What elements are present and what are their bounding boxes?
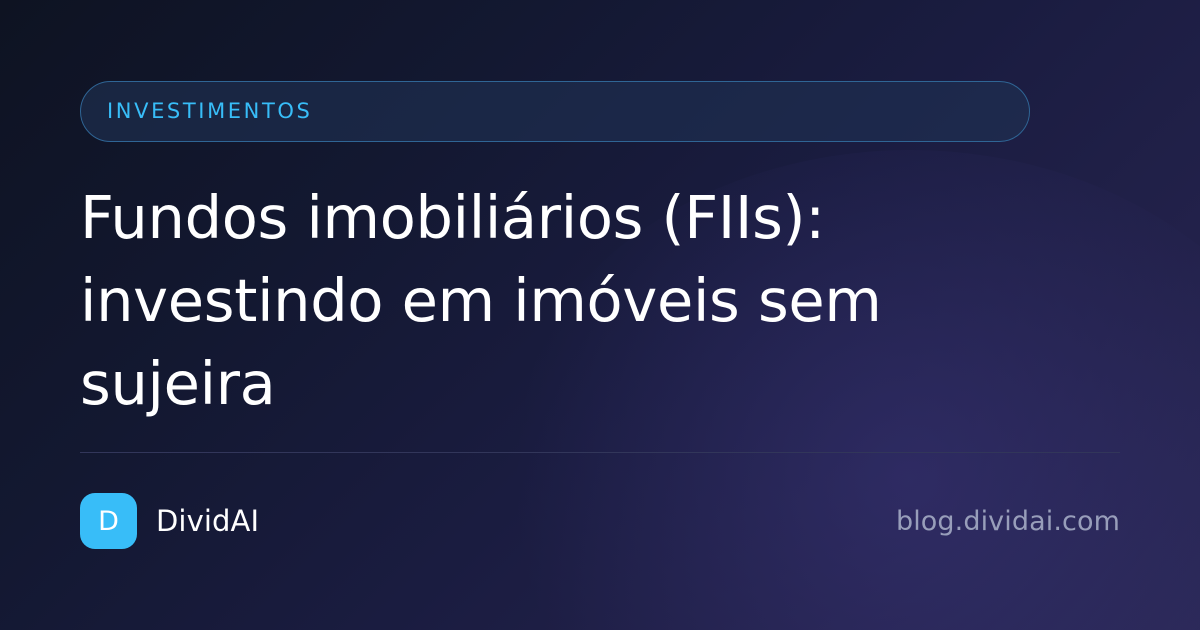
avatar-initial: D bbox=[98, 508, 119, 535]
page-title-line-1: Fundos imobiliários (FIIs): bbox=[80, 176, 980, 259]
footer-divider bbox=[80, 452, 1120, 453]
brand-name: DividAI bbox=[156, 504, 259, 538]
avatar: D bbox=[80, 493, 137, 549]
category-badge[interactable]: INVESTIMENTOS bbox=[80, 81, 1030, 142]
brand-block[interactable]: D DividAI bbox=[80, 493, 259, 549]
page-title: Fundos imobiliários (FIIs): investindo e… bbox=[80, 176, 980, 426]
open-graph-card: INVESTIMENTOS Fundos imobiliários (FIIs)… bbox=[0, 0, 1200, 630]
page-title-line-2: investindo em imóveis sem bbox=[80, 259, 980, 342]
category-badge-label: INVESTIMENTOS bbox=[107, 101, 312, 122]
site-url: blog.dividai.com bbox=[896, 506, 1120, 537]
card-footer: D DividAI blog.dividai.com bbox=[80, 493, 1120, 549]
page-title-line-3: sujeira bbox=[80, 342, 980, 425]
